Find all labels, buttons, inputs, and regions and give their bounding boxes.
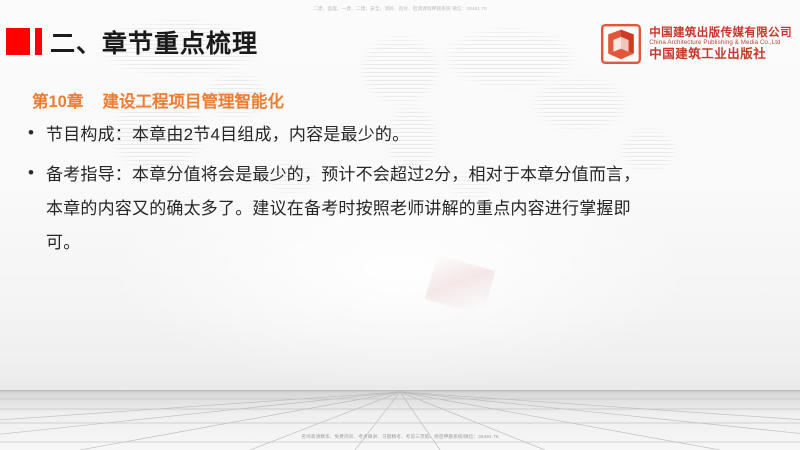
presentation-slide: 二建、监理、一建、二建、安全、消防、造价、检测课程押题系统 微信：38491 7…: [0, 0, 800, 450]
title-mark-large: [6, 28, 30, 55]
bullet-marker: •: [26, 118, 46, 148]
publisher-logo: 中国建筑出版传媒有限公司 China Architecture Publishi…: [601, 24, 792, 64]
bullet-line: 节目构成：本章由2节4目组成，内容是最少的。: [46, 118, 409, 152]
chapter-number: 第10章: [32, 93, 83, 111]
page-title: 二、章节重点梳理: [50, 24, 258, 60]
logo-company-name-cn: 中国建筑出版传媒有限公司: [649, 27, 792, 39]
chapter-heading: 第10章 建设工程项目管理智能化: [32, 88, 284, 112]
bullet-line: 本章的内容又的确太多了。建议在备考时按照老师讲解的重点内容进行掌握即: [46, 192, 640, 226]
bullet-line: 可。: [46, 226, 640, 260]
title-accent-marks: [6, 28, 42, 55]
bullet-text: 备考指导：本章分值将会是最少的，预计不会超过2分，相对于本章分值而言， 本章的内…: [46, 158, 640, 260]
list-item: • 节目构成：本章由2节4目组成，内容是最少的。: [26, 118, 778, 152]
watermark-top: 二建、监理、一建、二建、安全、消防、造价、检测课程押题系统 微信：38491 7…: [0, 6, 800, 12]
open-book-logo-mark-icon: [601, 24, 641, 64]
watermark-bottom: 名师高清精华、免费内训、考点串讲、习题精考、考前三页纸、绝密押题系统/微信：38…: [0, 434, 800, 440]
bullet-text: 节目构成：本章由2节4目组成，内容是最少的。: [46, 118, 409, 152]
bullet-marker: •: [26, 158, 46, 188]
logo-text-block: 中国建筑出版传媒有限公司 China Architecture Publishi…: [649, 27, 792, 62]
title-mark-small: [35, 28, 42, 55]
bullet-line: 备考指导：本章分值将会是最少的，预计不会超过2分，相对于本章分值而言，: [46, 158, 640, 192]
logo-press-name: 中国建筑工业出版社: [649, 48, 792, 61]
bullet-list: • 节目构成：本章由2节4目组成，内容是最少的。 • 备考指导：本章分值将会是最…: [26, 118, 778, 266]
logo-company-name-en: China Architecture Publishing & Media Co…: [649, 40, 792, 47]
list-item: • 备考指导：本章分值将会是最少的，预计不会超过2分，相对于本章分值而言， 本章…: [26, 158, 778, 260]
floor-grid-lines: [0, 390, 800, 450]
perspective-floor: [0, 390, 800, 450]
chapter-title: 建设工程项目管理智能化: [103, 93, 285, 111]
